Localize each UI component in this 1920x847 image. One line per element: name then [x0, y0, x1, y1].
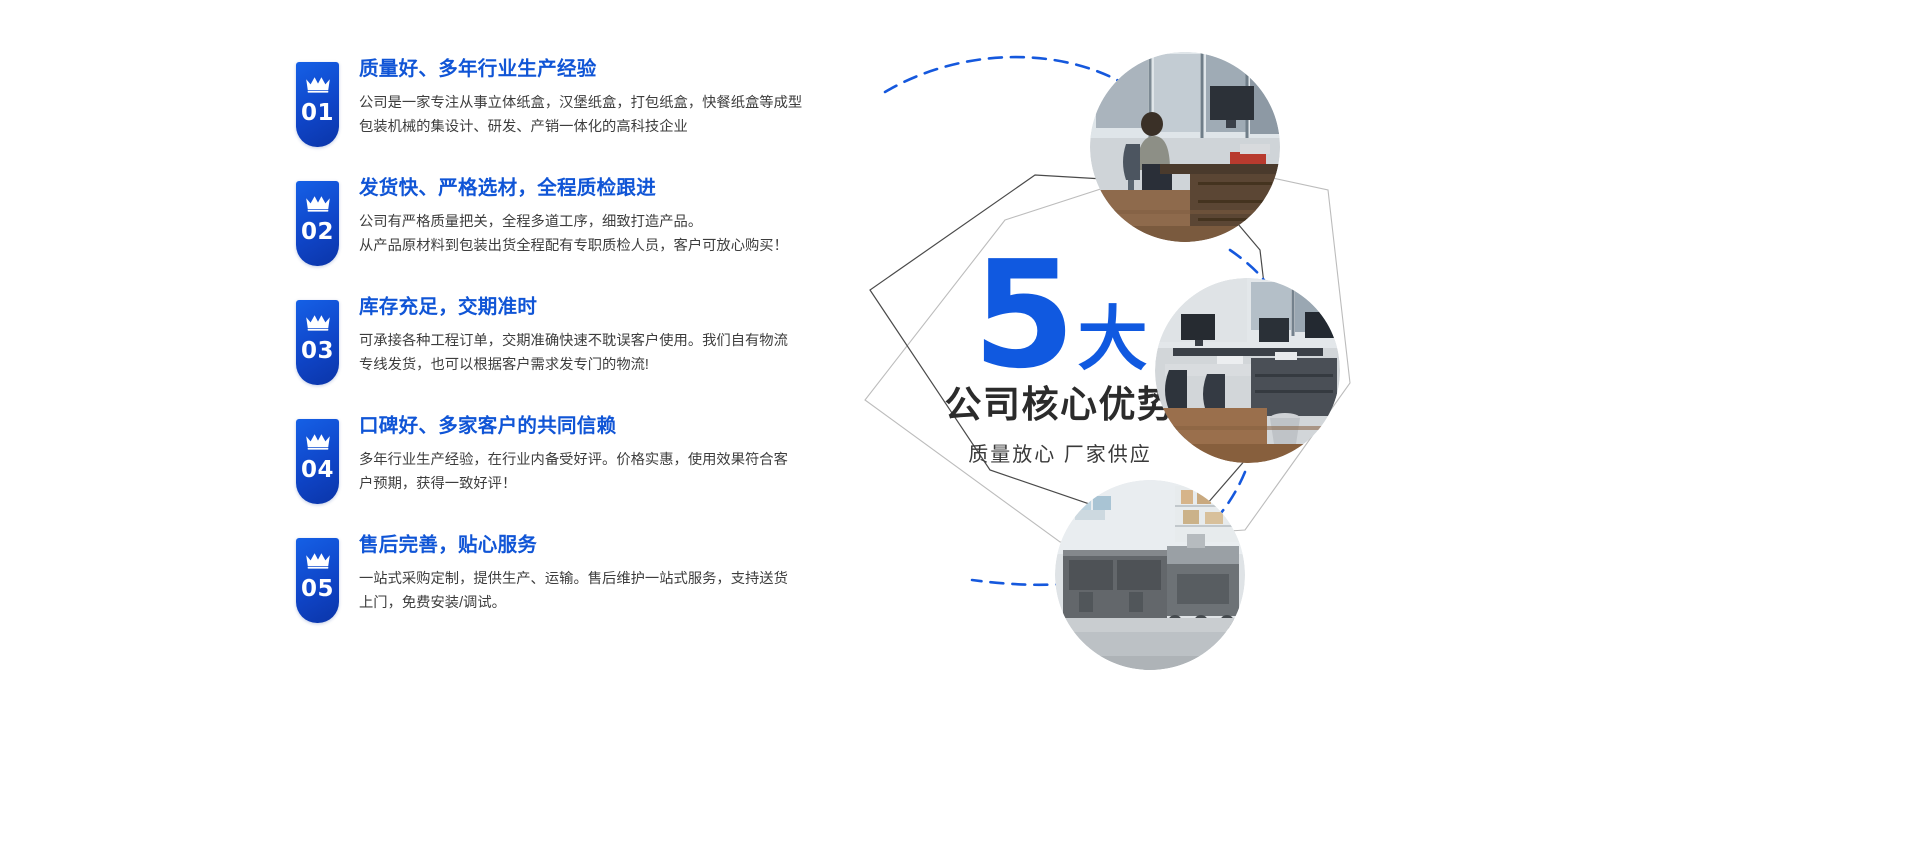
feature-text: 质量好、多年行业生产经验 公司是一家专注从事立体纸盒，汉堡纸盒，打包纸盒，快餐纸… — [359, 56, 802, 139]
feature-title: 售后完善，贴心服务 — [359, 534, 788, 557]
photo-office-2 — [1155, 278, 1340, 463]
feature-description: 公司有严格质量把关，全程多道工序，细致打造产品。 从产品原材料到包装出货全程配有… — [359, 211, 788, 257]
feature-desc-line: 多年行业生产经验，在行业内备受好评。价格实惠，使用效果符合客 — [359, 449, 788, 472]
feature-desc-line: 户预期，获得一致好评！ — [359, 473, 788, 496]
promo-banner: 01 质量好、多年行业生产经验 公司是一家专注从事立体纸盒，汉堡纸盒，打包纸盒，… — [0, 0, 1920, 847]
feature-description: 一站式采购定制，提供生产、运输。售后维护一站式服务，支持送货 上门，免费安装/调… — [359, 568, 788, 614]
feature-description: 多年行业生产经验，在行业内备受好评。价格实惠，使用效果符合客 户预期，获得一致好… — [359, 449, 788, 495]
feature-text: 库存充足，交期准时 可承接各种工程订单，交期准确快速不耽误客户使用。我们自有物流… — [359, 294, 788, 377]
core-advantage-graphic: 5 大 公司核心优势 质量放心 厂家供应 — [790, 0, 1920, 847]
badge-02: 02 — [296, 181, 339, 266]
crown-icon — [305, 552, 331, 569]
badge-01: 01 — [296, 62, 339, 147]
feature-title: 库存充足，交期准时 — [359, 296, 788, 319]
feature-desc-line: 公司有严格质量把关，全程多道工序，细致打造产品。 — [359, 211, 788, 234]
feature-desc-line: 一站式采购定制，提供生产、运输。售后维护一站式服务，支持送货 — [359, 568, 788, 591]
crown-icon — [305, 433, 331, 450]
badge-number: 02 — [301, 221, 334, 244]
badge-03: 03 — [296, 300, 339, 385]
feature-description: 可承接各种工程订单，交期准确快速不耽误客户使用。我们自有物流 专线发货，也可以根… — [359, 330, 788, 376]
photo-office-1-image — [1090, 52, 1280, 242]
crown-icon — [305, 76, 331, 93]
feature-title: 发货快、严格选材，全程质检跟进 — [359, 177, 788, 200]
feature-desc-line: 上门，免费安装/调试。 — [359, 592, 788, 615]
badge-number: 05 — [301, 578, 334, 601]
photo-machine-image — [1055, 480, 1245, 670]
feature-text: 发货快、严格选材，全程质检跟进 公司有严格质量把关，全程多道工序，细致打造产品。… — [359, 175, 788, 258]
crown-icon — [305, 314, 331, 331]
badge-number: 01 — [301, 102, 334, 125]
badge-number: 03 — [301, 340, 334, 363]
photo-office-1 — [1090, 52, 1280, 242]
feature-desc-line: 从产品原材料到包装出货全程配有专职质检人员，客户可放心购买！ — [359, 235, 788, 258]
feature-description: 公司是一家专注从事立体纸盒，汉堡纸盒，打包纸盒，快餐纸盒等成型 包装机械的集设计… — [359, 92, 802, 138]
feature-desc-line: 公司是一家专注从事立体纸盒，汉堡纸盒，打包纸盒，快餐纸盒等成型 — [359, 92, 802, 115]
feature-desc-line: 包装机械的集设计、研发、产销一体化的高科技企业 — [359, 116, 802, 139]
feature-desc-line: 专线发货，也可以根据客户需求发专门的物流! — [359, 354, 788, 377]
feature-desc-line: 可承接各种工程订单，交期准确快速不耽误客户使用。我们自有物流 — [359, 330, 788, 353]
feature-text: 售后完善，贴心服务 一站式采购定制，提供生产、运输。售后维护一站式服务，支持送货… — [359, 532, 788, 615]
badge-04: 04 — [296, 419, 339, 504]
crown-icon — [305, 195, 331, 212]
feature-title: 质量好、多年行业生产经验 — [359, 58, 802, 81]
badge-05: 05 — [296, 538, 339, 623]
feature-title: 口碑好、多家客户的共同信赖 — [359, 415, 788, 438]
badge-number: 04 — [301, 459, 334, 482]
feature-text: 口碑好、多家客户的共同信赖 多年行业生产经验，在行业内备受好评。价格实惠，使用效… — [359, 413, 788, 496]
emblem-vectors — [790, 0, 1920, 847]
photo-machine — [1055, 480, 1245, 670]
photo-office-2-image — [1155, 278, 1340, 463]
